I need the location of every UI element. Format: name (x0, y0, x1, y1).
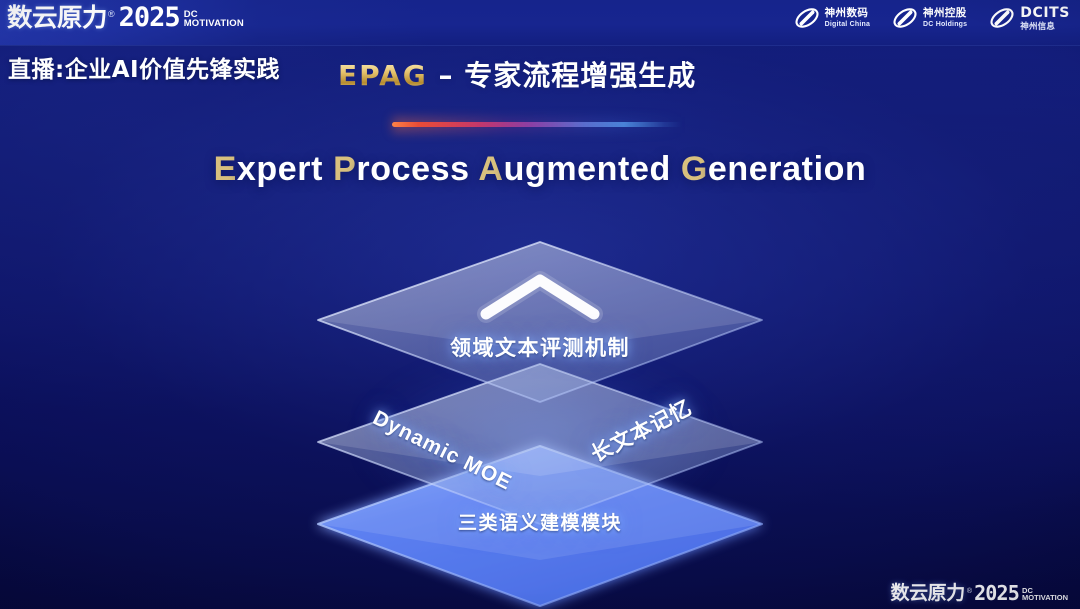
brand-year: 2025 (119, 4, 180, 31)
brand-name-cn: 数云原力 (7, 5, 107, 30)
subtitle-expansion: Expert Process Augmented Generation (0, 150, 1080, 189)
partner-logo-dc-holdings: 神州控股 DC Holdings (892, 5, 967, 31)
partner-name-en: 神州信息 (1020, 22, 1070, 31)
partner-logo-text: DCITS 神州信息 (1020, 6, 1070, 31)
swoosh-logo-icon (794, 5, 820, 31)
partner-logo-dcits: DCITS 神州信息 (989, 5, 1070, 31)
partner-logo-text: 神州数码 Digital China (825, 8, 870, 28)
title-chinese: 专家流程增强生成 (464, 59, 696, 92)
footer-watermark: 数云原力 ® 2025 DC MOTIVATION (890, 583, 1068, 603)
subtitle-part-7: eneration (708, 150, 866, 188)
brand-dc-motivation: DC MOTIVATION (184, 10, 244, 29)
subtitle-part-1: xpert (237, 150, 333, 188)
layer-label-top: 领域文本评测机制 (0, 332, 1080, 362)
subtitle-part-4: A (478, 150, 503, 188)
page-title: EPAG – 专家流程增强生成 (338, 54, 696, 94)
partner-name-en: Digital China (825, 21, 870, 28)
brand-dc-line2: MOTIVATION (184, 19, 244, 29)
title-separator: – (428, 59, 465, 92)
subtitle-part-5: ugmented (504, 150, 681, 188)
swoosh-logo-icon (892, 5, 918, 31)
subtitle-part-2: P (333, 150, 356, 188)
watermark-dc-motivation: DC MOTIVATION (1022, 587, 1068, 602)
partner-name-cn: DCITS (1020, 6, 1070, 20)
partner-name-cn: 神州数码 (825, 8, 870, 19)
watermark-name-cn: 数云原力 (890, 584, 964, 603)
partner-logo-text: 神州控股 DC Holdings (923, 8, 967, 28)
subtitle-part-0: E (214, 150, 237, 188)
slide-canvas: 数云原力 ® 2025 DC MOTIVATION 直播:企业AI价值先锋实践 … (0, 0, 1080, 609)
title-acronym: EPAG (338, 59, 428, 92)
event-brand-lockup: 数云原力 ® 2025 DC MOTIVATION (8, 3, 244, 30)
layer-label-bottom: 三类语义建模模块 (0, 508, 1080, 535)
accent-divider-bar (392, 122, 682, 127)
live-session-title: 直播:企业AI价值先锋实践 (8, 50, 280, 84)
subtitle-part-3: rocess (356, 150, 478, 188)
partner-name-cn: 神州控股 (923, 8, 967, 19)
watermark-dc-line2: MOTIVATION (1022, 594, 1068, 602)
swoosh-logo-icon (989, 5, 1015, 31)
stack-layer-top (308, 236, 772, 416)
partner-logo-group: 神州数码 Digital China 神州控股 DC Holdings (794, 5, 1070, 31)
partner-logo-digital-china: 神州数码 Digital China (794, 5, 870, 31)
registered-mark-icon: ® (967, 588, 972, 595)
watermark-year: 2025 (974, 583, 1019, 603)
partner-name-en: DC Holdings (923, 21, 967, 28)
registered-mark-icon: ® (108, 10, 115, 19)
subtitle-part-6: G (681, 150, 708, 188)
